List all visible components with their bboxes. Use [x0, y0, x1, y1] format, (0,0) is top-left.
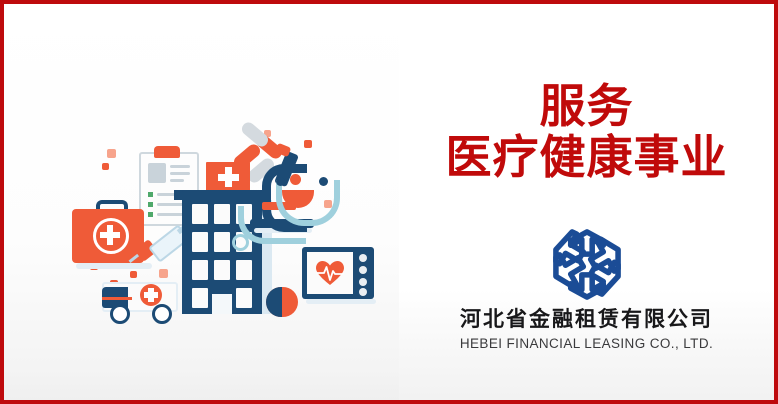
ambulance-wheel: [152, 304, 172, 324]
hospital-entrance: [212, 294, 232, 314]
ecg-screen: [307, 252, 353, 294]
clipboard-check: [148, 212, 153, 217]
ecg-heart-monitor-icon: [302, 247, 374, 299]
ambulance-cross-icon: [140, 284, 162, 306]
company-name-en: HEBEI FINANCIAL LEASING CO., LTD.: [399, 336, 774, 351]
stethoscope-earpiece: [276, 177, 285, 186]
right-content-panel: 服务 医疗健康事业 河北省金融租赁有限公司 HEBEI FINANCIAL LE…: [399, 4, 774, 400]
clipboard-check: [148, 202, 153, 207]
brand-block: 河北省金融租赁有限公司 HEBEI FINANCIAL LEASING CO.,…: [399, 226, 774, 351]
clipboard-line: [170, 172, 190, 175]
clipboard-clip-icon: [154, 146, 180, 158]
company-name-cn: 河北省金融租赁有限公司: [399, 306, 774, 332]
confetti-dot: [107, 149, 116, 158]
clipboard-photo: [148, 163, 166, 183]
medical-illustration: [4, 4, 399, 400]
slide-canvas: 服务 医疗健康事业 河北省金融租赁有限公司 HEBEI FINANCIAL LE…: [0, 0, 778, 404]
capsule-pill-icon: [266, 287, 298, 317]
first-aid-kit-shadow: [76, 263, 152, 269]
confetti-dot: [159, 269, 168, 278]
ambulance-wheel: [110, 304, 130, 324]
hexagon-knot-logo-icon: [550, 226, 624, 300]
clipboard-line: [170, 179, 184, 182]
ambulance-stripe: [102, 297, 132, 300]
hospital-cross-sign-icon: [206, 162, 250, 192]
clipboard-line: [170, 165, 190, 168]
ecg-monitor-shadow: [306, 299, 376, 304]
confetti-dot: [102, 163, 109, 170]
headline-block: 服务 医疗健康事业: [399, 82, 774, 182]
stethoscope-ring: [232, 234, 249, 251]
clipboard-check: [148, 192, 153, 197]
headline-line-2: 医疗健康事业: [399, 133, 774, 182]
confetti-dot: [304, 140, 312, 148]
headline-line-1: 服务: [399, 82, 774, 131]
confetti-dot: [130, 271, 137, 278]
first-aid-cross-icon: [93, 218, 129, 254]
stethoscope-earpiece: [319, 177, 328, 186]
clipboard-line: [157, 213, 183, 216]
ecg-heart-icon: [316, 261, 344, 286]
